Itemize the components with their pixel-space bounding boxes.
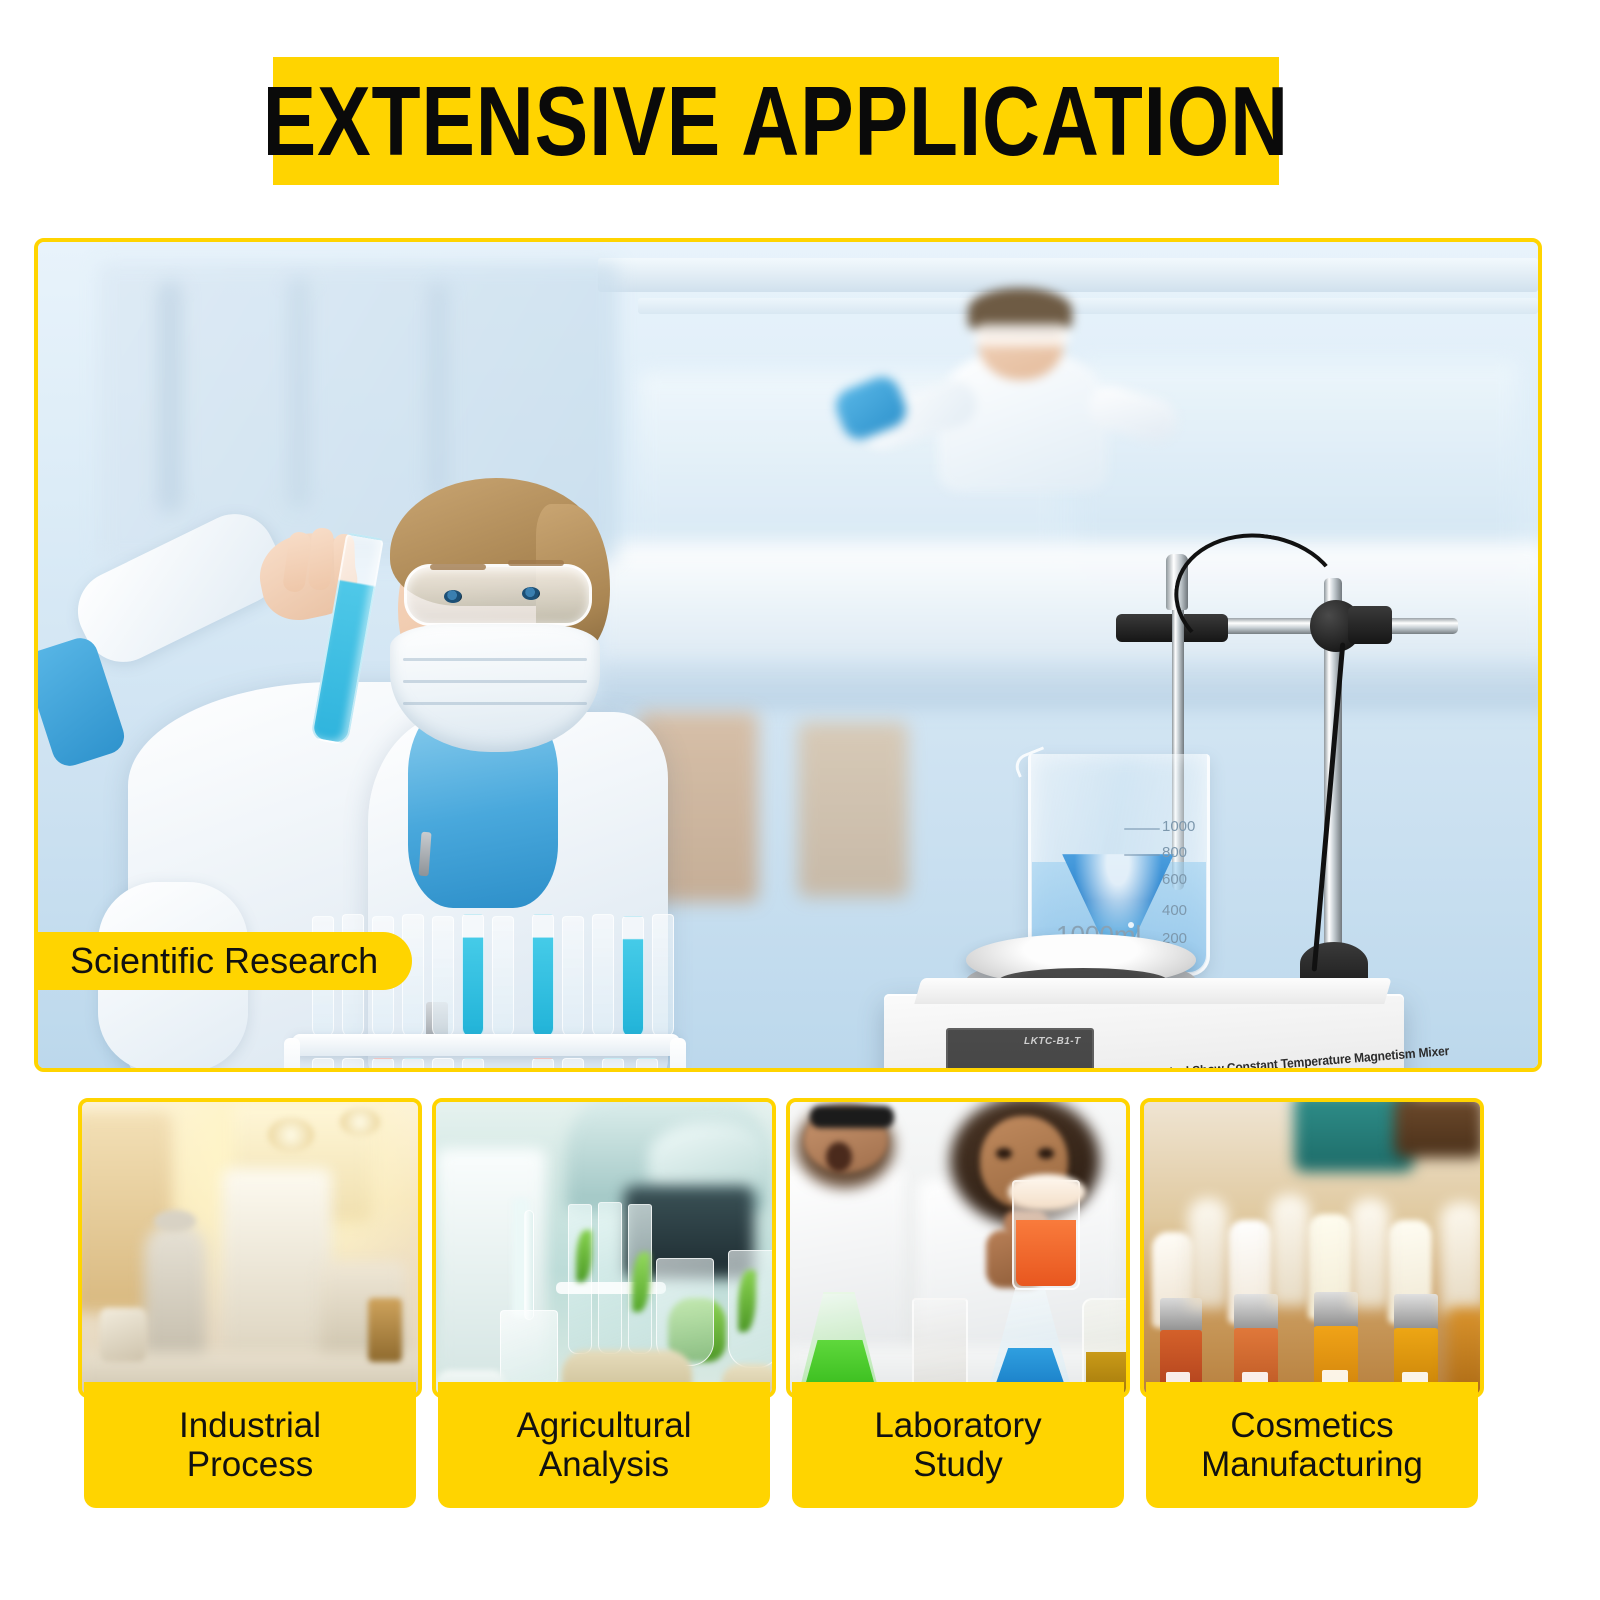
graduation-label: 600	[1162, 871, 1187, 888]
test-tube-filled	[372, 1058, 394, 1068]
eyebrow	[430, 564, 486, 570]
test-tube	[652, 914, 674, 1038]
test-tube	[592, 914, 614, 1038]
card-caption-laboratory: Laboratory Study	[792, 1382, 1124, 1508]
card-caption-line2: Process	[187, 1445, 313, 1484]
graduation-mark	[1124, 854, 1160, 856]
rack-upper-bar	[292, 1034, 680, 1056]
scene-laboratory	[790, 1102, 1126, 1394]
safety-goggles	[404, 564, 592, 626]
controller-panel	[946, 1028, 1094, 1068]
test-tube	[562, 1058, 584, 1068]
scene-cosmetics	[1144, 1102, 1480, 1394]
card-caption-cosmetics: Cosmetics Manufacturing	[1146, 1382, 1478, 1508]
card-caption-line2: Study	[913, 1445, 1003, 1484]
test-tube-filled	[532, 1058, 554, 1068]
test-tube-filled	[462, 914, 484, 1038]
hero-image: 1000 800 600 400 200 1000ml	[34, 238, 1542, 1072]
rack-post	[670, 1038, 686, 1068]
card-cosmetics-manufacturing[interactable]: Cosmetics Manufacturing	[1140, 1098, 1484, 1398]
product-feature-page: EXTENSIVE APPLICATION	[0, 0, 1600, 1600]
header-banner: EXTENSIVE APPLICATION	[273, 57, 1279, 185]
scene-industrial	[82, 1102, 418, 1394]
graduation-label: 400	[1162, 902, 1187, 919]
card-laboratory-study[interactable]: Laboratory Study	[786, 1098, 1130, 1398]
graduation-label: 800	[1162, 844, 1187, 861]
test-tube	[562, 916, 584, 1038]
test-tube-filled	[402, 1058, 424, 1068]
test-tube-filled	[602, 1058, 624, 1068]
graduation-label: 1000	[1162, 818, 1195, 835]
hero-caption-label: Scientific Research	[70, 943, 378, 979]
card-caption-line1: Industrial	[179, 1406, 321, 1445]
rack-post	[284, 1038, 300, 1068]
test-tube	[342, 1058, 364, 1068]
lab-shelf	[598, 258, 1538, 292]
shelf-divider	[428, 282, 448, 502]
lab-bench-edge	[598, 662, 1538, 710]
card-caption-industrial: Industrial Process	[84, 1382, 416, 1508]
eye	[522, 587, 540, 600]
card-image-agricultural	[432, 1098, 776, 1398]
card-caption-line1: Agricultural	[516, 1406, 691, 1445]
card-caption-agricultural: Agricultural Analysis	[438, 1382, 770, 1508]
shelf-divider	[288, 278, 310, 508]
card-agricultural-analysis[interactable]: Agricultural Analysis	[432, 1098, 776, 1398]
card-industrial-process[interactable]: Industrial Process	[78, 1098, 422, 1398]
page-title: EXTENSIVE APPLICATION	[263, 72, 1289, 170]
shelf-divider	[158, 282, 182, 512]
application-cards: Industrial Process	[0, 1098, 1600, 1538]
test-tube-filled	[636, 1058, 658, 1068]
eyebrow	[508, 560, 564, 566]
test-tube	[492, 916, 514, 1038]
card-caption-line1: Cosmetics	[1230, 1406, 1393, 1445]
graduation-mark	[1124, 828, 1160, 830]
test-tube-filled	[462, 1058, 484, 1068]
scene-agricultural	[436, 1102, 772, 1394]
test-tube	[432, 1058, 454, 1068]
lab-shelf	[638, 298, 1538, 314]
card-image-cosmetics	[1140, 1098, 1484, 1398]
lab-stool	[798, 722, 908, 897]
test-tube	[312, 1058, 334, 1068]
clamp-block	[1348, 606, 1392, 644]
test-tube-filled	[622, 916, 644, 1038]
card-caption-line2: Manufacturing	[1201, 1445, 1423, 1484]
hero-caption-pill: Scientific Research	[38, 932, 412, 990]
card-caption-line1: Laboratory	[874, 1406, 1041, 1445]
test-tube-filled	[532, 914, 554, 1038]
eye	[444, 590, 462, 603]
card-caption-line2: Analysis	[539, 1445, 669, 1484]
model-label: LKTC-B1-T	[1024, 1036, 1081, 1047]
test-tube	[432, 916, 454, 1038]
card-image-laboratory	[786, 1098, 1130, 1398]
device-top-face	[914, 978, 1391, 1004]
lab-bench	[598, 542, 1538, 672]
card-image-industrial	[78, 1098, 422, 1398]
finger	[308, 527, 334, 590]
